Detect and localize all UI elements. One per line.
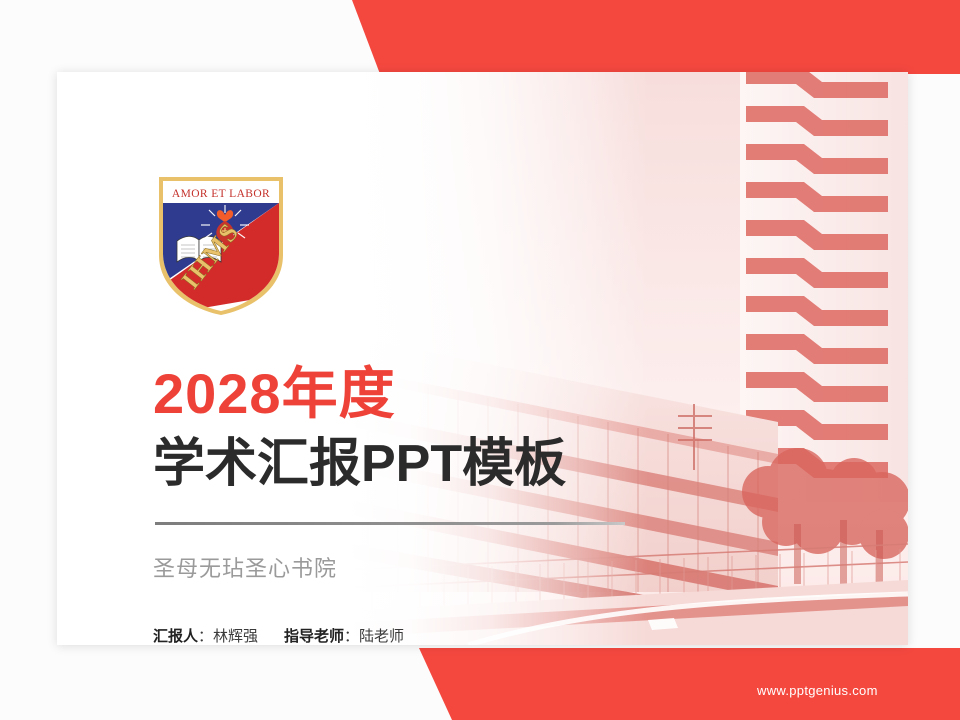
page-title: 学术汇报PPT模板	[153, 438, 566, 490]
advisor-label: 指导老师	[284, 628, 344, 645]
presenter-name: ：林辉强	[198, 628, 258, 645]
crest-motto: AMOR ET LABOR	[172, 188, 270, 200]
school-crest-logo: AMOR ET LABOR IHMS	[155, 175, 287, 315]
photo-left-fade	[348, 72, 648, 645]
presenter-label: 汇报人	[153, 628, 198, 645]
byline: 汇报人：林辉强指导老师：陆老师	[153, 625, 404, 645]
organization-name: 圣母无玷圣心书院	[153, 551, 337, 583]
title-divider	[155, 522, 625, 525]
footer-website-url[interactable]: www.pptgenius.com	[757, 683, 878, 698]
year-heading: 2028年度	[153, 366, 396, 422]
advisor-name: ：陆老师	[344, 628, 404, 645]
presentation-slide: AMOR ET LABOR IHMS 2028年度 学术汇报PPT模板 圣母无玷…	[0, 0, 960, 720]
content-card: AMOR ET LABOR IHMS 2028年度 学术汇报PPT模板 圣母无玷…	[57, 72, 908, 645]
school-building-photo	[348, 72, 908, 645]
